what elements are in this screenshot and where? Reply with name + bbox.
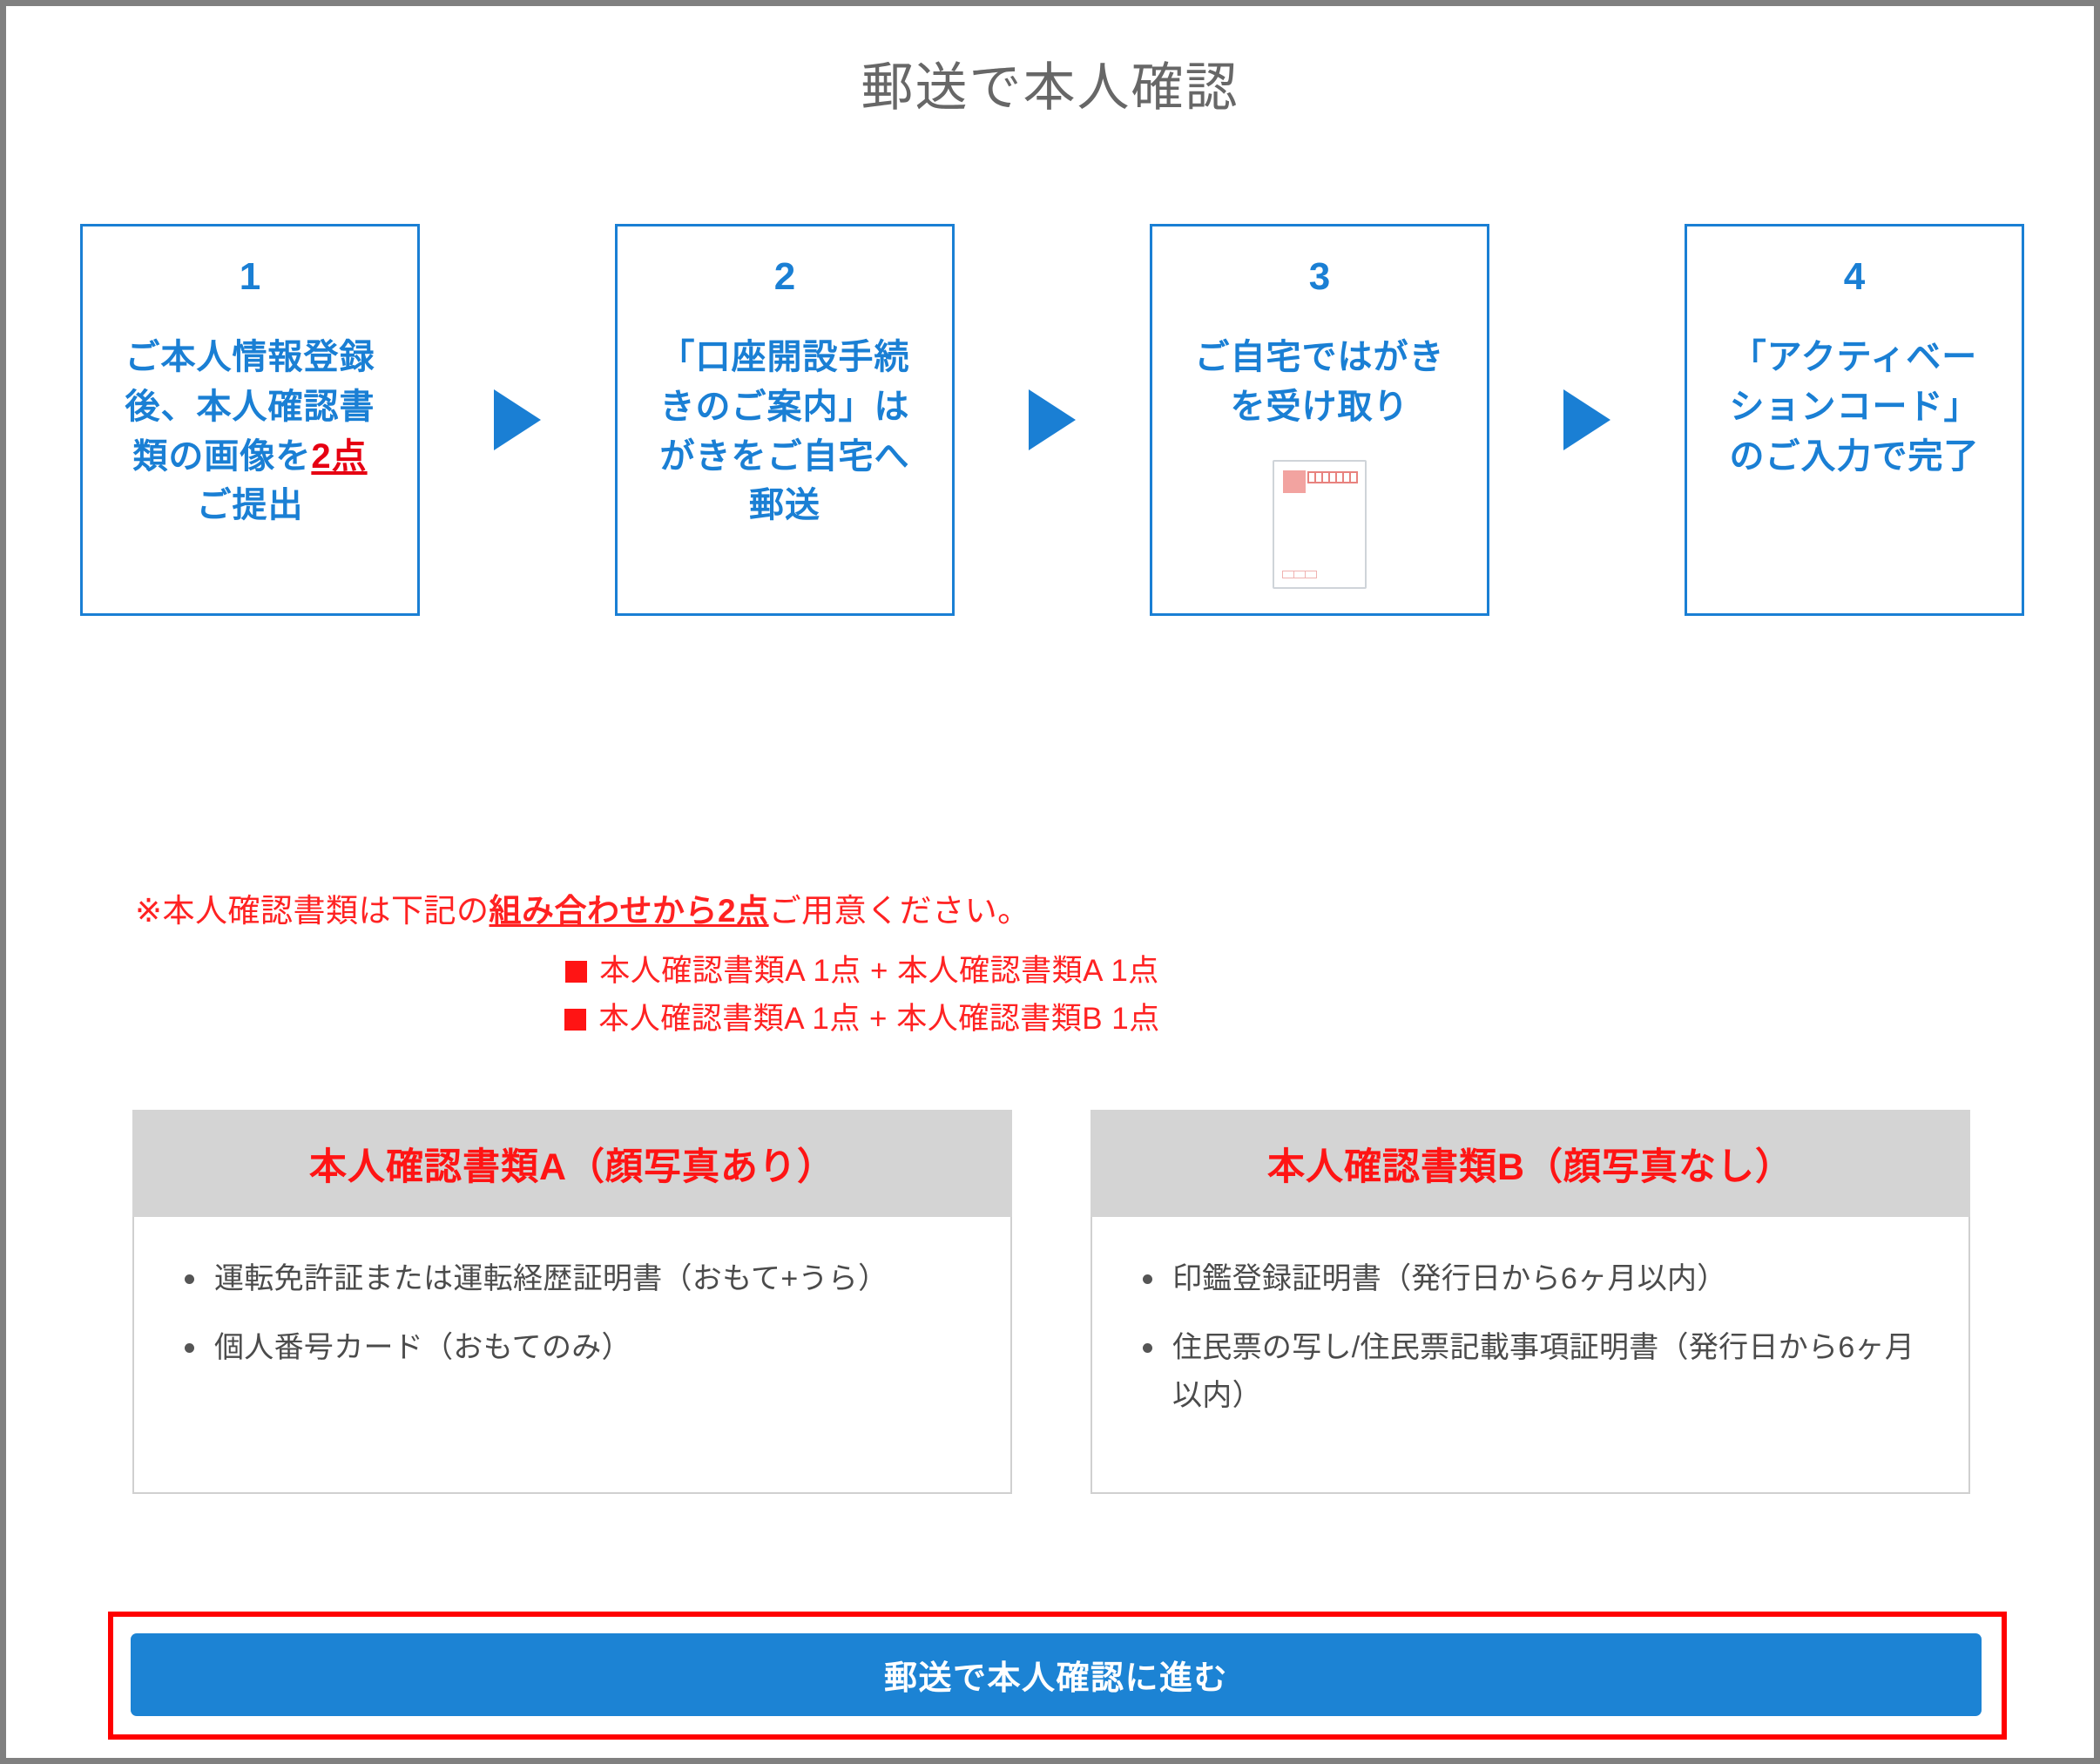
- step-box-1: 1 ご本人情報登録後、本人確認書類の画像を2点ご提出: [80, 224, 420, 616]
- steps-flow: 1 ご本人情報登録後、本人確認書類の画像を2点ご提出 2 「口座開設手続きのご案…: [80, 224, 2024, 616]
- document-list-b: 印鑑登録証明書（発行日から6ヶ月以内） 住民票の写し/住民票記載事項証明書（発行…: [1122, 1255, 1939, 1420]
- notice-block: ※本人確認書類は下記の組み合わせから2点ご用意ください。 本人確認書類A 1点 …: [135, 889, 1964, 1039]
- step-number: 3: [1309, 258, 1330, 296]
- list-item: 本人確認書類A 1点 + 本人確認書類A 1点: [135, 952, 1964, 991]
- step-description: 「アクティベーションコード」のご入力で完了: [1724, 333, 1985, 481]
- step-box-4: 4 「アクティベーションコード」のご入力で完了: [1685, 224, 2024, 616]
- postcard-zipcode-boxes: [1307, 471, 1358, 483]
- postcard-stamp: [1283, 470, 1306, 493]
- page-frame: 郵送で本人確認 1 ご本人情報登録後、本人確認書類の画像を2点ご提出 2 「口座…: [6, 6, 2094, 1758]
- page-title: 郵送で本人確認: [6, 57, 2094, 119]
- step-box-3: 3 ご自宅ではがきを受け取り: [1150, 224, 1489, 616]
- step-text-before: 「アクティベーションコード」のご入力で完了: [1730, 338, 1980, 476]
- list-item: 本人確認書類A 1点 + 本人確認書類B 1点: [135, 1000, 1964, 1039]
- combination-label: 本人確認書類A 1点 + 本人確認書類B 1点: [598, 1002, 1160, 1036]
- document-card-a: 本人確認書類A（顔写真あり） 運転免許証または運転経歴証明書（おもて+うら） 個…: [132, 1110, 1012, 1494]
- step-box-2: 2 「口座開設手続きのご案内」はがきをご自宅へ郵送: [615, 224, 955, 616]
- document-card-b-header: 本人確認書類B（顔写真なし）: [1091, 1110, 1970, 1217]
- step-text-after: ご提出: [197, 486, 304, 524]
- notice-lead-underline: 組み合わせから2点: [490, 893, 769, 929]
- proceed-mail-verification-button[interactable]: 郵送で本人確認に進む: [131, 1633, 1982, 1716]
- arrow-right-icon-2: [1021, 224, 1084, 616]
- step-description: 「口座開設手続きのご案内」はがきをご自宅へ郵送: [654, 333, 915, 531]
- step-text-before: 「口座開設手続きのご案内」はがきをご自宅へ郵送: [660, 338, 910, 524]
- step-description: ご自宅ではがきを受け取り: [1189, 333, 1450, 432]
- step-text-before: ご自宅ではがきを受け取り: [1195, 338, 1445, 426]
- step-number: 4: [1844, 258, 1865, 296]
- notice-lead-part2: ご用意ください。: [769, 893, 1030, 929]
- notice-lead: ※本人確認書類は下記の組み合わせから2点ご用意ください。: [135, 889, 1964, 933]
- list-item: 運転免許証または運転経歴証明書（おもて+うら）: [214, 1255, 981, 1303]
- page-content: 郵送で本人確認 1 ご本人情報登録後、本人確認書類の画像を2点ご提出 2 「口座…: [6, 6, 2094, 1758]
- step-number: 1: [240, 258, 260, 296]
- step-number: 2: [774, 258, 795, 296]
- list-item: 住民票の写し/住民票記載事項証明書（発行日から6ヶ月以内）: [1172, 1324, 1939, 1420]
- document-card-b-body: 印鑑登録証明書（発行日から6ヶ月以内） 住民票の写し/住民票記載事項証明書（発行…: [1091, 1217, 1970, 1494]
- square-bullet-icon: [565, 961, 587, 983]
- document-card-a-body: 運転免許証または運転経歴証明書（おもて+うら） 個人番号カード（おもてのみ）: [132, 1217, 1012, 1494]
- document-list-a: 運転免許証または運転経歴証明書（おもて+うら） 個人番号カード（おもてのみ）: [164, 1255, 981, 1372]
- document-card-b: 本人確認書類B（顔写真なし） 印鑑登録証明書（発行日から6ヶ月以内） 住民票の写…: [1091, 1110, 1970, 1494]
- postcard-icon-wrap: [1152, 460, 1487, 589]
- postcard-icon: [1273, 460, 1367, 589]
- document-cards: 本人確認書類A（顔写真あり） 運転免許証または運転経歴証明書（おもて+うら） 個…: [132, 1110, 1970, 1494]
- square-bullet-icon: [564, 1009, 586, 1031]
- notice-lead-part1: ※本人確認書類は下記の: [135, 893, 490, 929]
- notice-combination-list: 本人確認書類A 1点 + 本人確認書類A 1点 本人確認書類A 1点 + 本人確…: [135, 952, 1964, 1039]
- postcard-address-line: [1282, 571, 1317, 578]
- document-card-a-header: 本人確認書類A（顔写真あり）: [132, 1110, 1012, 1217]
- combination-label: 本人確認書類A 1点 + 本人確認書類A 1点: [599, 954, 1159, 988]
- list-item: 個人番号カード（おもてのみ）: [214, 1324, 981, 1372]
- arrow-right-icon-1: [486, 224, 549, 616]
- step-description: ご本人情報登録後、本人確認書類の画像を2点ご提出: [119, 333, 381, 531]
- list-item: 印鑑登録証明書（発行日から6ヶ月以内）: [1172, 1255, 1939, 1303]
- arrow-right-icon-3: [1556, 224, 1618, 616]
- step-text-highlight: 2点: [311, 437, 367, 476]
